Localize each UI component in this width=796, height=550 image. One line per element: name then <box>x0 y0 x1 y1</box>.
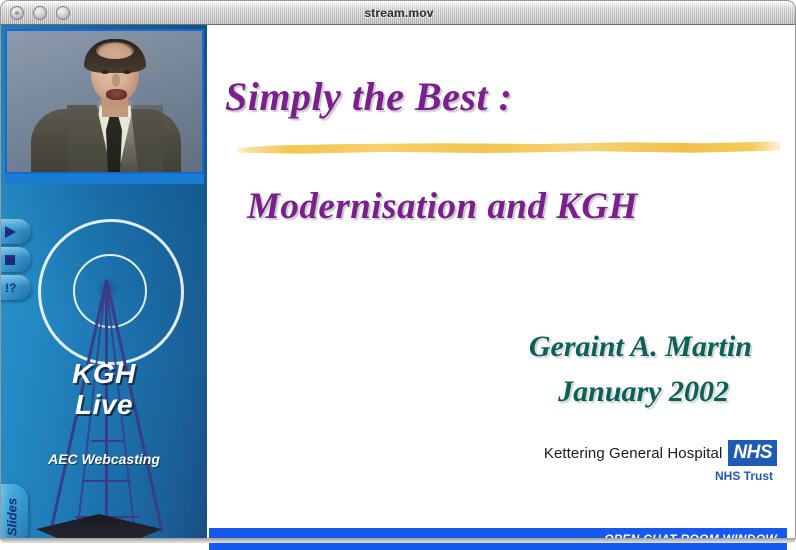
organisation-logo: Kettering General Hospital NHS NHS Trust <box>537 440 777 483</box>
tower-crossbar-2 <box>83 480 131 482</box>
player-window: stream.mov <box>0 0 796 543</box>
slides-tab[interactable]: Slides <box>1 484 28 538</box>
brand-tagline: AEC Webcasting <box>1 451 207 467</box>
presenter-eye-left <box>101 70 109 74</box>
slide-title-line-1: Simply the Best : <box>225 73 785 120</box>
slide-area: Simply the Best : Modernisation and KGH … <box>207 25 795 538</box>
slides-tab-label: Slides <box>4 498 19 536</box>
brand-name: KGH Live <box>1 358 207 420</box>
brush-stroke-divider <box>235 140 780 156</box>
video-bottom-strip <box>5 174 204 184</box>
video-viewport[interactable] <box>5 29 204 174</box>
hospital-name: Kettering General Hospital <box>544 445 723 462</box>
tower-base <box>1 514 207 538</box>
nhs-trust-label: NHS Trust <box>537 469 777 483</box>
window-bottom-edge <box>0 538 796 543</box>
slide-author: Geraint A. Martin <box>207 330 752 364</box>
help-icon: !? <box>5 282 16 294</box>
tower-crossbar-1 <box>91 440 123 442</box>
window-content: !? KGH Live AEC W <box>0 25 796 538</box>
help-button[interactable]: !? <box>1 275 31 300</box>
brand-line-2: Live <box>1 389 207 420</box>
play-button[interactable] <box>1 219 31 244</box>
play-icon <box>5 226 16 238</box>
presenter-brow-right <box>120 64 134 67</box>
presenter-brow-left <box>98 64 112 67</box>
player-sidebar: !? KGH Live AEC W <box>1 25 207 538</box>
presenter-tie <box>106 113 122 174</box>
window-title: stream.mov <box>1 1 796 25</box>
presenter-nose <box>112 74 120 87</box>
slide-title-line-2: Modernisation and KGH <box>247 185 792 228</box>
presenter-mouth <box>106 89 127 100</box>
stop-icon <box>5 255 15 265</box>
window-titlebar[interactable]: stream.mov <box>0 0 796 25</box>
nhs-logo-icon: NHS <box>728 440 777 466</box>
presenter-eye-right <box>123 70 131 74</box>
slide-date: January 2002 <box>207 375 729 409</box>
tower-base-diamond <box>36 514 162 538</box>
brand-line-1: KGH <box>1 358 207 389</box>
stop-button[interactable] <box>1 247 31 272</box>
organisation-row: Kettering General Hospital NHS <box>537 440 777 466</box>
